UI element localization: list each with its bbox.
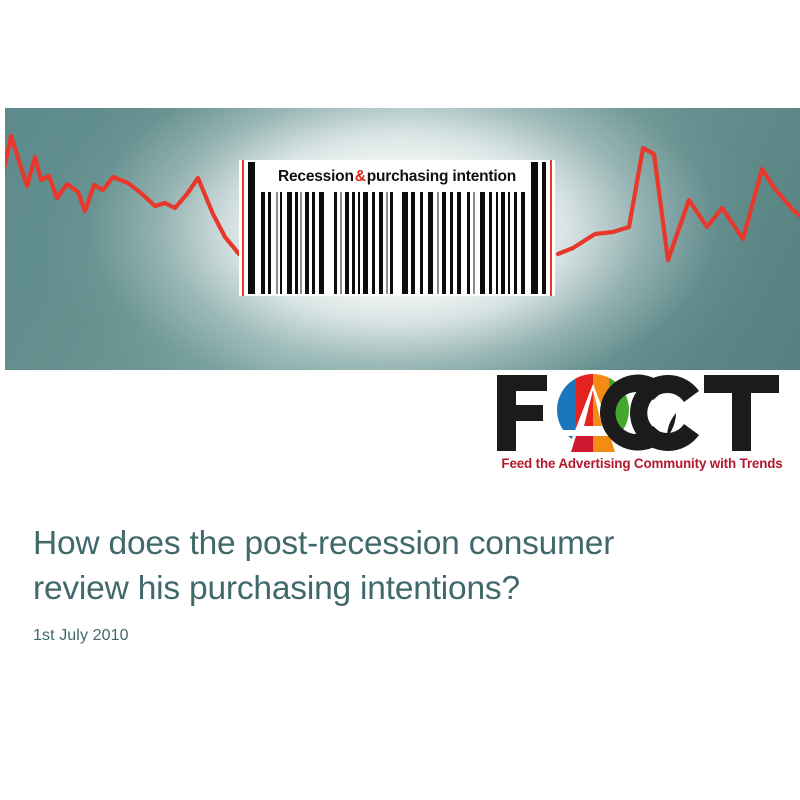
barcode-bar — [386, 192, 388, 294]
barcode-bar — [489, 192, 492, 294]
barcode-bar — [496, 192, 498, 294]
barcode-bar — [363, 192, 368, 294]
barcode-bar — [450, 192, 453, 294]
barcode-bar — [428, 192, 433, 294]
barcode-label: Recession & purchasing intention — [239, 165, 555, 188]
fact-tagline: Feed the Advertising Community with Tren… — [493, 456, 791, 471]
barcode-bar — [358, 192, 360, 294]
barcode-bar — [340, 192, 342, 294]
barcode-bar — [508, 192, 510, 294]
page-title-line-1: How does the post-recession consumer — [33, 525, 614, 562]
barcode-bar — [457, 192, 461, 294]
trend-line-right — [558, 148, 800, 260]
barcode-bar — [379, 192, 383, 294]
barcode-graphic: Recession & purchasing intention — [239, 160, 555, 296]
barcode-label-ampersand: & — [354, 168, 367, 186]
barcode-bar — [521, 192, 525, 294]
barcode-bar — [372, 192, 375, 294]
title-block: How does the post-recession consumer rev… — [33, 521, 763, 645]
barcode-bar — [402, 192, 408, 294]
barcode-bar — [334, 192, 337, 294]
barcode-bar — [319, 192, 324, 294]
barcode-bar — [276, 192, 278, 294]
barcode-bar — [352, 192, 355, 294]
barcode-bar — [345, 192, 349, 294]
page-title: How does the post-recession consumer rev… — [33, 521, 763, 611]
barcode-bar — [305, 192, 309, 294]
barcode-bar — [480, 192, 485, 294]
barcode-bar — [501, 192, 505, 294]
barcode-bar — [300, 192, 302, 294]
barcode-label-suffix: purchasing intention — [367, 168, 516, 186]
barcode-bar — [437, 192, 439, 294]
barcode-bar — [261, 192, 265, 294]
barcode-bar — [473, 192, 475, 294]
logo-letter-t — [704, 375, 779, 451]
barcode-bar — [287, 192, 292, 294]
barcode-label-prefix: Recession — [278, 168, 354, 186]
fact-logo-mark — [491, 372, 791, 454]
page-title-line-2: review his purchasing intentions? — [33, 570, 520, 607]
barcode-bar — [420, 192, 423, 294]
barcode-bar — [467, 192, 470, 294]
logo-letter-f — [497, 375, 547, 451]
barcode-bar — [268, 192, 271, 294]
barcode-bar — [442, 192, 446, 294]
logo-a-base — [571, 436, 615, 452]
barcode-bar — [411, 192, 415, 294]
barcode-bar — [295, 192, 298, 294]
barcode-bar — [514, 192, 517, 294]
barcode-bar — [312, 192, 315, 294]
barcode-bar — [390, 192, 393, 294]
fact-logo: Feed the Advertising Community with Tren… — [491, 372, 791, 477]
trend-line-left — [5, 136, 245, 254]
publication-date: 1st July 2010 — [33, 627, 763, 645]
barcode-bar — [280, 192, 282, 294]
